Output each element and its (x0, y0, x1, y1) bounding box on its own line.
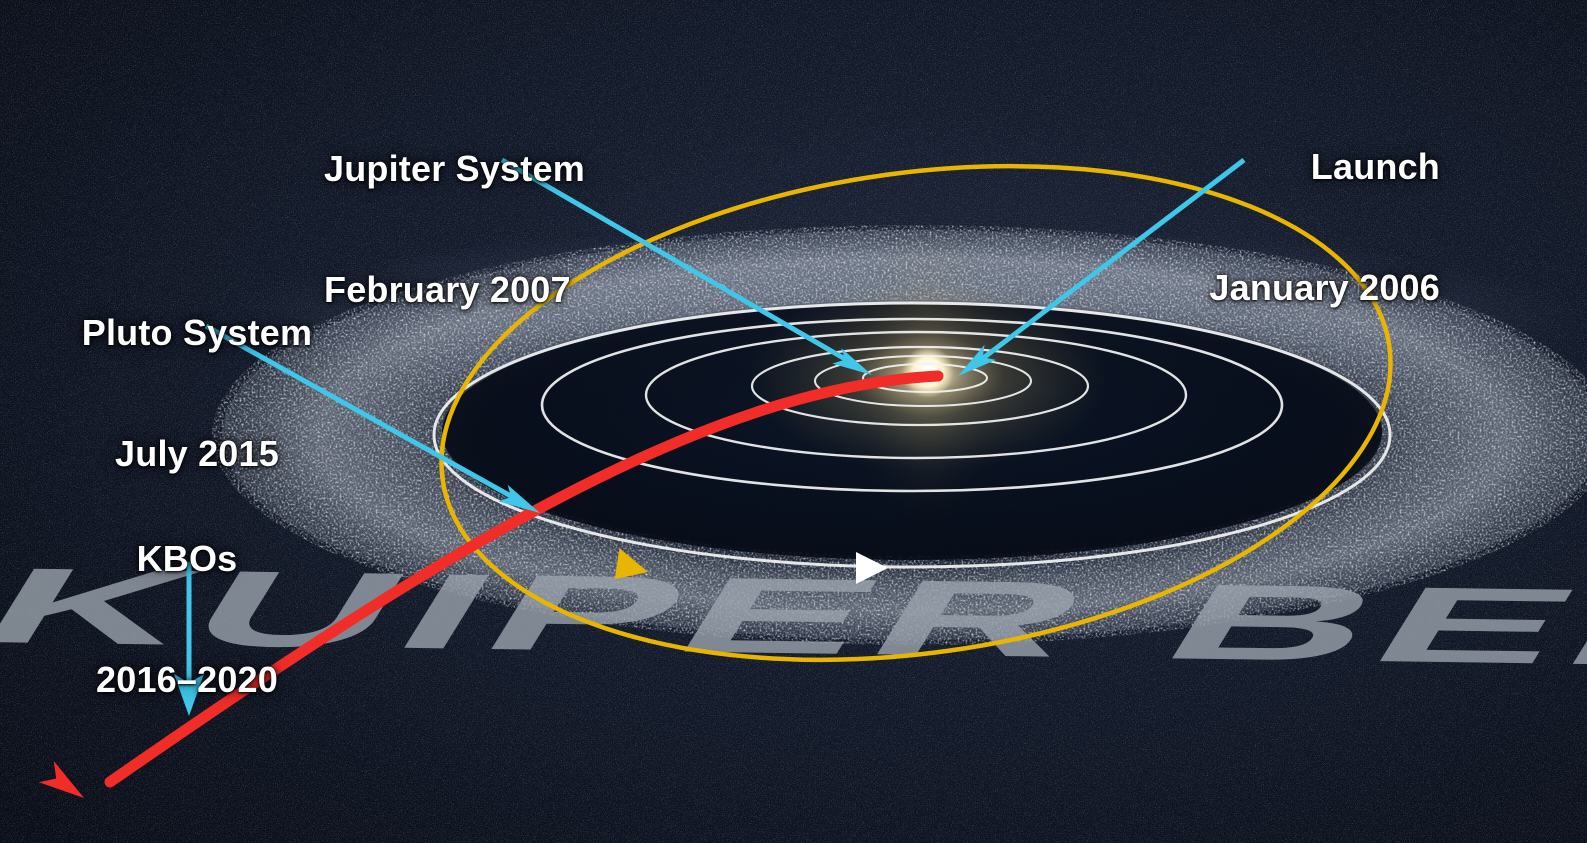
trajectory-diagram: KUIPER BELT (0, 0, 1587, 843)
scene-artwork: KUIPER BELT (0, 0, 1587, 843)
